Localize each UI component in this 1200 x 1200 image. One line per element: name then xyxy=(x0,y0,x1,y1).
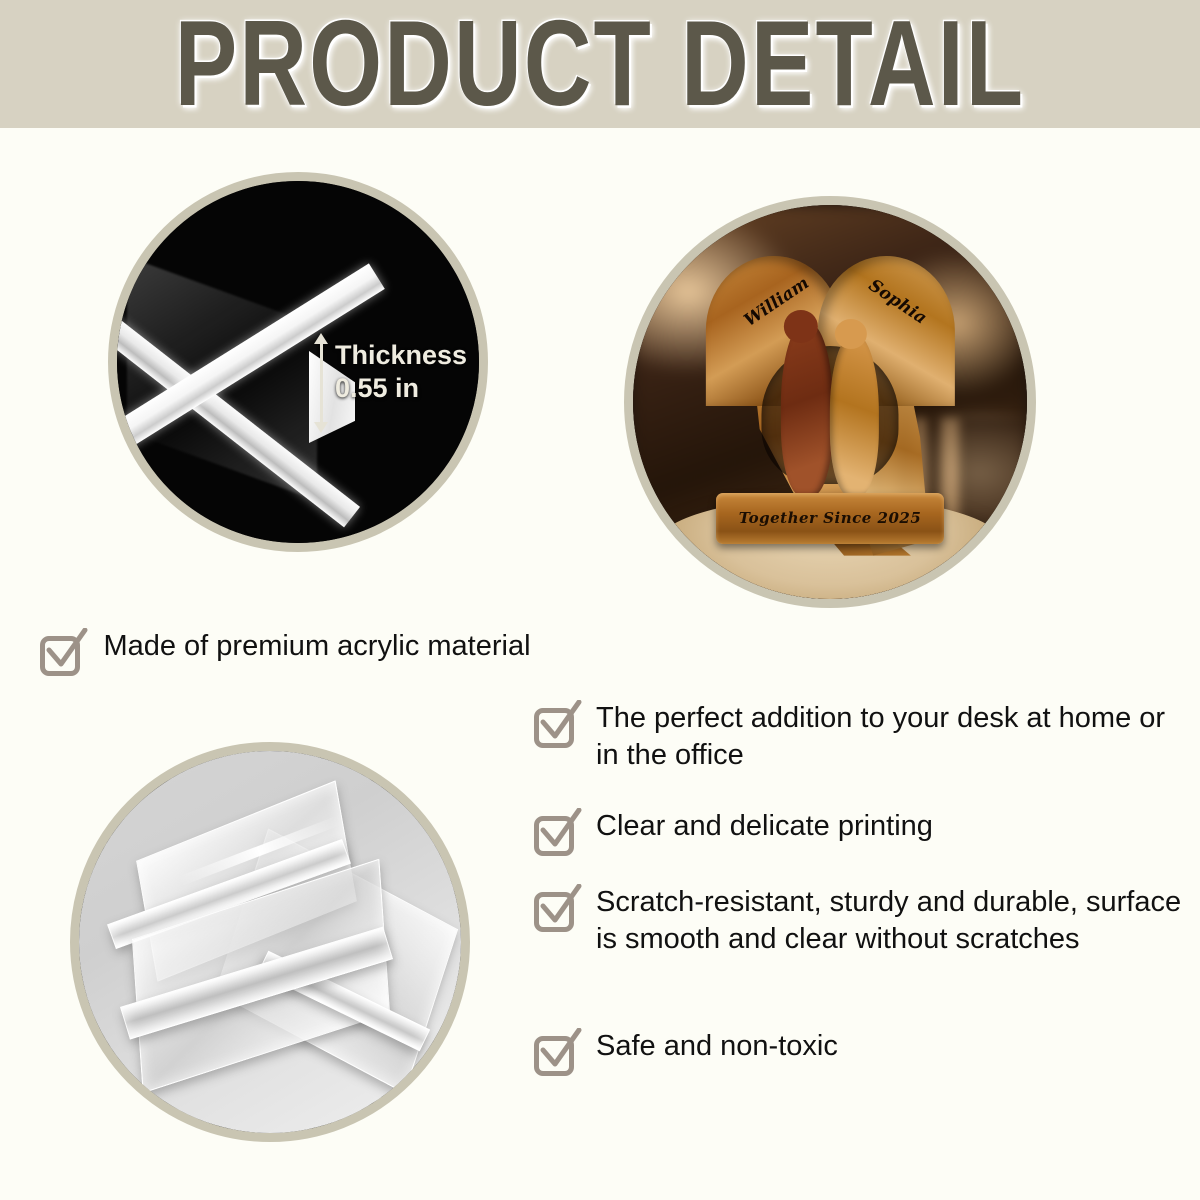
checkmark-glyph xyxy=(539,1028,583,1072)
checkbox-checked-icon xyxy=(532,1030,578,1076)
base-plaque: Together Since 2025 xyxy=(716,493,945,544)
feature-item: The perfect addition to your desk at hom… xyxy=(532,700,1192,773)
feature-item: Safe and non-toxic xyxy=(532,1028,1192,1076)
page-title: PRODUCT DETAIL xyxy=(175,3,1025,124)
figure-woman xyxy=(830,334,879,496)
arrow-shaft xyxy=(320,341,323,425)
figure-man xyxy=(781,322,832,496)
feature-item: Clear and delicate printing xyxy=(532,808,1192,856)
acrylic-sheets-scene xyxy=(79,751,461,1133)
checkbox-checked-icon xyxy=(38,630,84,676)
checkbox-checked-icon xyxy=(532,810,578,856)
thickness-photo-circle: Thickness 0.55 in xyxy=(108,172,488,552)
thickness-arrow-icon xyxy=(313,333,329,433)
feature-label: Clear and delicate printing xyxy=(596,808,933,845)
thickness-label-line2: 0.55 in xyxy=(335,372,488,405)
feature-item: Scratch-resistant, sturdy and durable, s… xyxy=(532,884,1192,957)
base-plaque-text: Together Since 2025 xyxy=(739,509,922,527)
arrow-head-down xyxy=(314,422,328,433)
acrylic-edge-scene: Thickness 0.55 in xyxy=(117,181,479,543)
checkbox-checked-icon xyxy=(532,702,578,748)
thickness-label-line1: Thickness xyxy=(335,339,488,372)
thickness-label: Thickness 0.55 in xyxy=(335,339,488,405)
checkmark-glyph xyxy=(539,808,583,852)
acrylic-sheets-photo-circle xyxy=(70,742,470,1142)
checkmark-glyph xyxy=(45,628,89,672)
feature-label: The perfect addition to your desk at hom… xyxy=(596,700,1192,773)
feature-label: Safe and non-toxic xyxy=(596,1028,838,1065)
checkmark-glyph xyxy=(539,884,583,928)
feature-item: Made of premium acrylic material xyxy=(38,628,558,676)
feature-label: Scratch-resistant, sturdy and durable, s… xyxy=(596,884,1192,957)
product-photo-circle: William Sophia Together Since 2025 xyxy=(624,196,1036,608)
product-scene: William Sophia Together Since 2025 xyxy=(633,205,1027,599)
checkbox-checked-icon xyxy=(532,886,578,932)
checkmark-glyph xyxy=(539,700,583,744)
figure-woman-head xyxy=(835,319,867,349)
header-band: PRODUCT DETAIL xyxy=(0,0,1200,128)
figure-man-head xyxy=(784,310,818,343)
feature-label: Made of premium acrylic material xyxy=(102,628,532,665)
